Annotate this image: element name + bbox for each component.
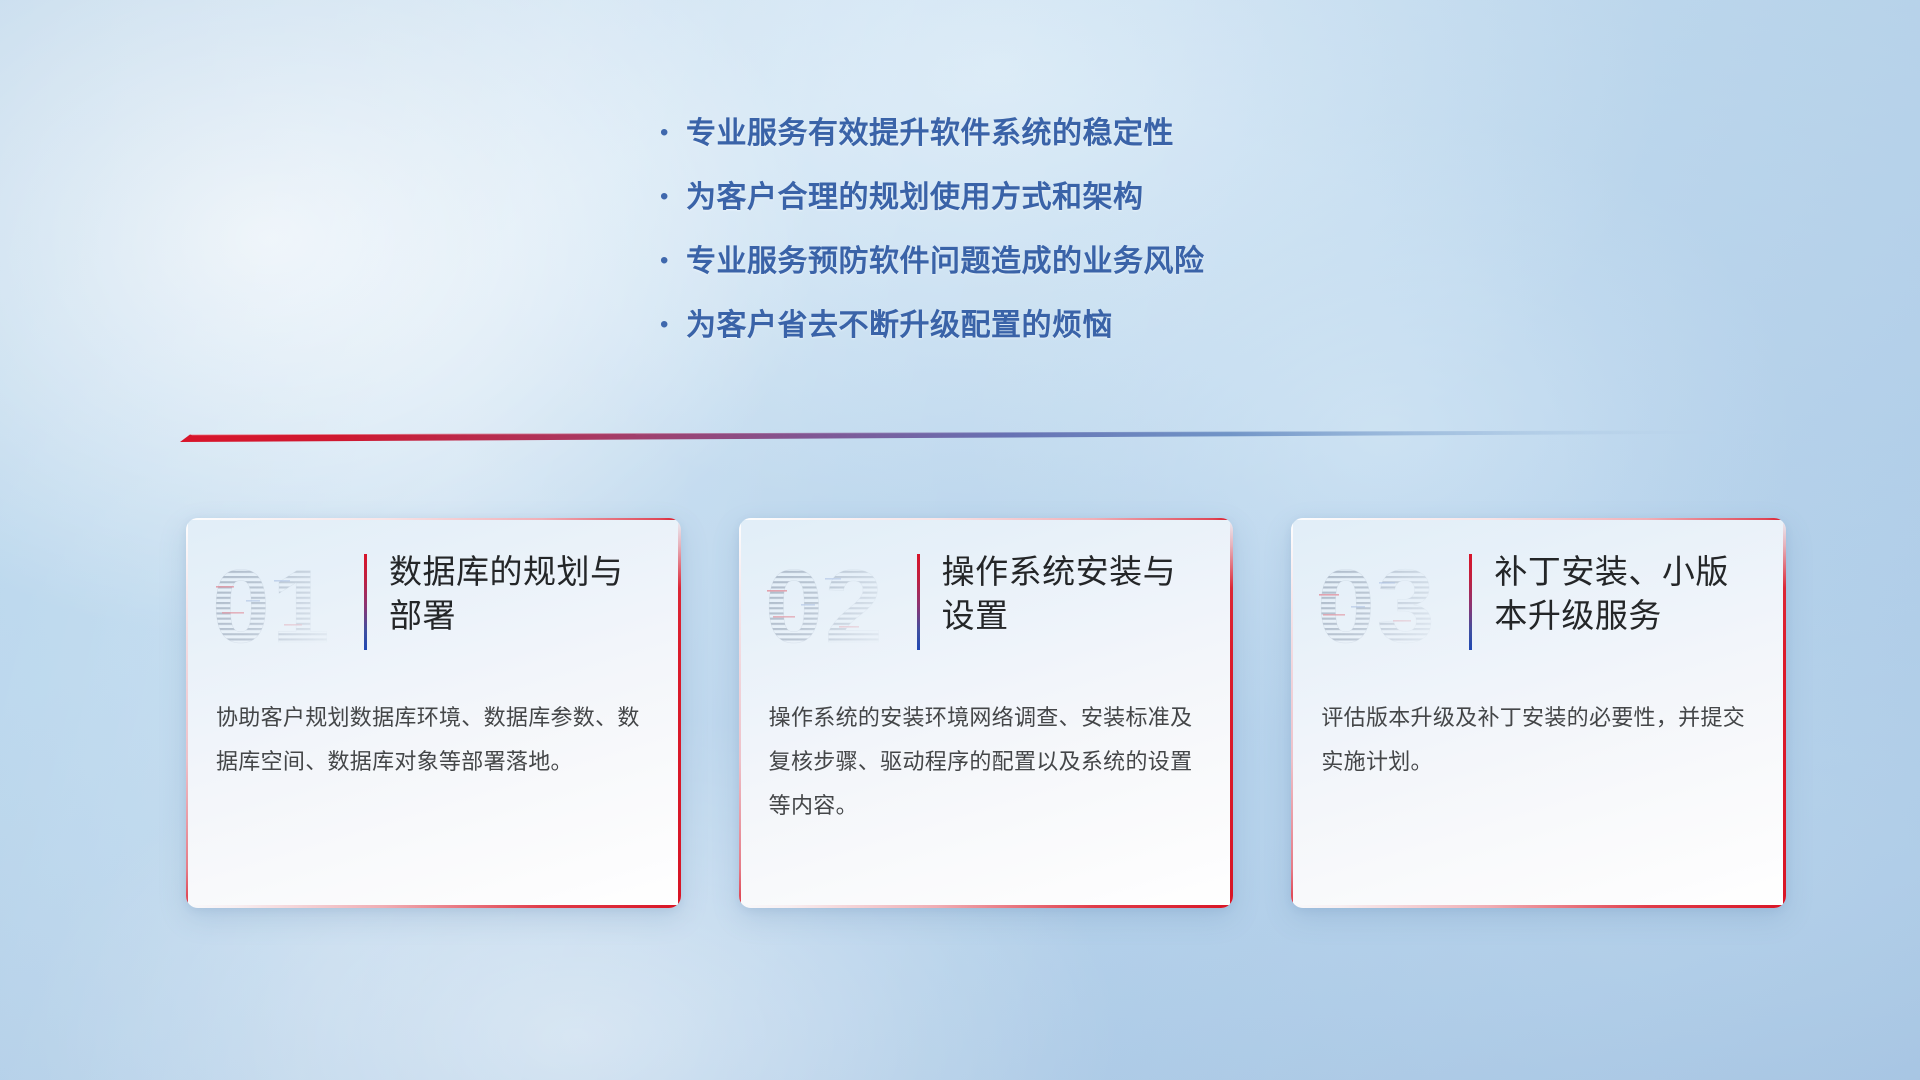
bullet-label: 专业服务有效提升软件系统的稳定性 xyxy=(686,108,1174,152)
service-card-group: 01 01 数据库的规划与部署 协助客户规划数据库环境、数据库参数、数据库空间、… xyxy=(186,518,1786,908)
card-number-striped-02: 02 02 xyxy=(765,550,913,660)
bullet-label: 专业服务预防软件问题造成的业务风险 xyxy=(686,236,1205,280)
card-description: 协助客户规划数据库环境、数据库参数、数据库空间、数据库对象等部署落地。 xyxy=(186,668,681,784)
card-edge-bottom-icon xyxy=(1291,905,1786,908)
card-description: 评估版本升级及补丁安装的必要性，并提交实施计划。 xyxy=(1291,668,1786,784)
card-description: 操作系统的安装环境网络调查、安装标准及复核步骤、驱动程序的配置以及系统的设置等内… xyxy=(739,668,1234,828)
card-title: 数据库的规划与部署 xyxy=(389,546,651,637)
gradient-wedge-divider xyxy=(180,425,1770,443)
card-title-tick-icon xyxy=(917,554,920,650)
bullet-dot-icon: • xyxy=(660,249,686,273)
card-title-tick-icon xyxy=(364,554,367,650)
bullet-label: 为客户合理的规划使用方式和架构 xyxy=(686,172,1144,216)
card-header: 02 02 操作系统安装与设置 xyxy=(739,518,1234,668)
bullet-label: 为客户省去不断升级配置的烦恼 xyxy=(686,300,1113,344)
list-item: • 为客户省去不断升级配置的烦恼 xyxy=(660,300,1480,364)
card-edge-bottom-icon xyxy=(739,905,1234,908)
list-item: • 专业服务预防软件问题造成的业务风险 xyxy=(660,236,1480,300)
card-number-striped-01: 01 01 xyxy=(212,550,360,660)
card-number-striped-03: 03 03 xyxy=(1317,550,1465,660)
bullet-dot-icon: • xyxy=(660,185,686,209)
benefits-bullet-list: • 专业服务有效提升软件系统的稳定性 • 为客户合理的规划使用方式和架构 • 专… xyxy=(660,108,1480,364)
service-card-01[interactable]: 01 01 数据库的规划与部署 协助客户规划数据库环境、数据库参数、数据库空间、… xyxy=(186,518,681,908)
card-edge-bottom-icon xyxy=(186,905,681,908)
service-card-02[interactable]: 02 02 操作系统安装与设置 操作系统的安装环境网络调查、安装标准及复核步骤、… xyxy=(739,518,1234,908)
bullet-dot-icon: • xyxy=(660,121,686,145)
bullet-dot-icon: • xyxy=(660,313,686,337)
card-title-tick-icon xyxy=(1469,554,1472,650)
svg-text:03: 03 xyxy=(1317,550,1437,660)
card-header: 03 03 补丁安装、小版本升级服务 xyxy=(1291,518,1786,668)
card-title: 操作系统安装与设置 xyxy=(942,546,1204,637)
svg-text:02: 02 xyxy=(765,550,885,660)
list-item: • 专业服务有效提升软件系统的稳定性 xyxy=(660,108,1480,172)
service-card-03[interactable]: 03 03 补丁安装、小版本升级服务 评估版本升级及补丁安装的必要性，并提交实施… xyxy=(1291,518,1786,908)
card-header: 01 01 数据库的规划与部署 xyxy=(186,518,681,668)
card-title: 补丁安装、小版本升级服务 xyxy=(1494,546,1756,637)
list-item: • 为客户合理的规划使用方式和架构 xyxy=(660,172,1480,236)
slide-canvas: • 专业服务有效提升软件系统的稳定性 • 为客户合理的规划使用方式和架构 • 专… xyxy=(0,0,1920,1080)
svg-text:01: 01 xyxy=(212,550,332,660)
